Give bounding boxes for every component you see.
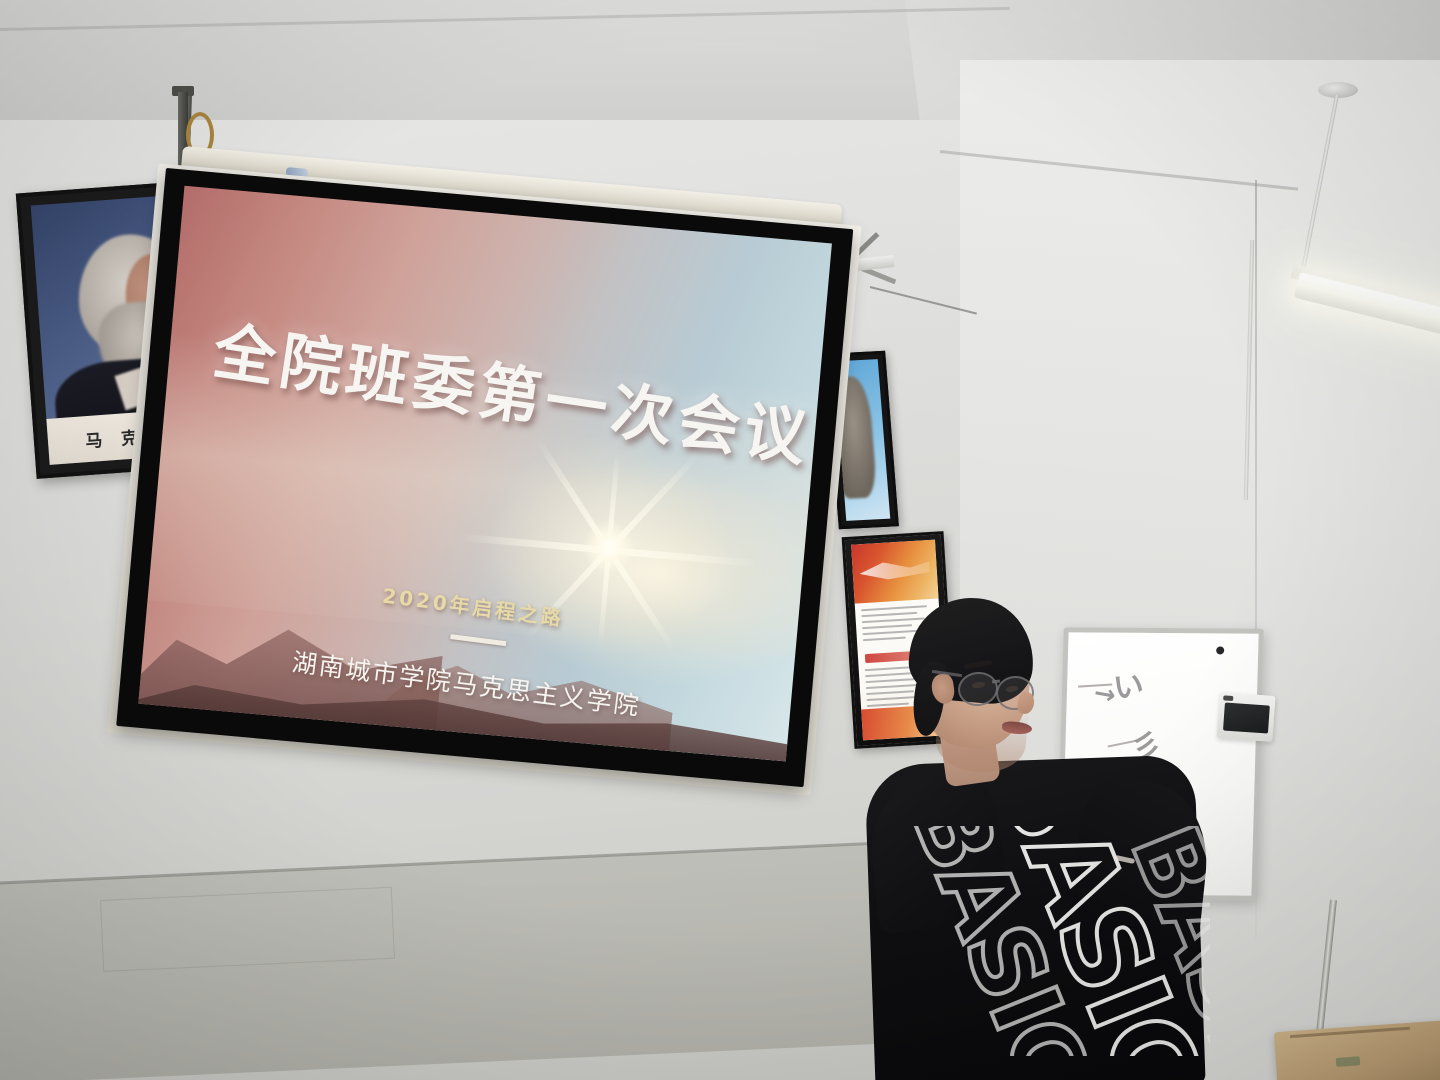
- whiteboard-magnet: [1216, 647, 1224, 655]
- presenter-sweater-graphic: BASIC BASIC BASIC: [890, 826, 1210, 1056]
- wall-control-panel[interactable]: [1216, 692, 1275, 742]
- classroom-photo-scene: 马 克 思: [0, 0, 1440, 1080]
- presentation-slide: 全院班委第一次会议 2020年启程之路 湖南城市学院马克思主义学院: [138, 186, 832, 762]
- wall-dado-panel: [100, 887, 395, 972]
- projector-screen-border: 全院班委第一次会议 2020年启程之路 湖南城市学院马克思主义学院: [116, 168, 853, 787]
- wall-panel-screen: [1223, 702, 1270, 733]
- poster-swoosh-graphic: [859, 558, 931, 582]
- projector-screen: 全院班委第一次会议 2020年启程之路 湖南城市学院马克思主义学院: [116, 168, 853, 787]
- wall-panel-button[interactable]: [1223, 695, 1233, 701]
- poster-header-banner: [851, 540, 938, 604]
- box-label-mark: [1336, 1056, 1361, 1067]
- presenter-person: BASIC BASIC BASIC: [880, 600, 1210, 1080]
